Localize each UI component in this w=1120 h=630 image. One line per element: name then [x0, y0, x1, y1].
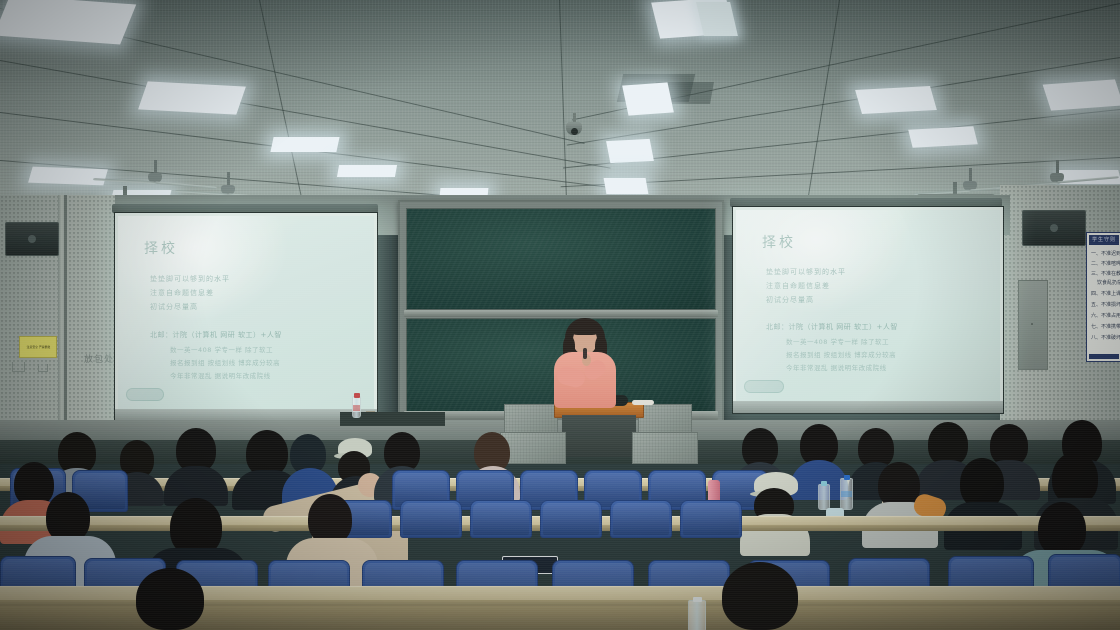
water-bottle	[688, 600, 706, 630]
poster-line: 六、不准占用座位	[1091, 313, 1120, 319]
slide-subline: 报名报到组 按组划线 博弈成分较高	[170, 357, 280, 367]
warning-sign-text: 注意安全 严禁攀爬	[26, 345, 50, 349]
ceiling-light	[1043, 79, 1120, 110]
poster-line: 七、不准携带宠物	[1091, 324, 1120, 330]
slide-left: 择校 垫垫脚可以够到的水平 注意自命题信息差 初试分尽量高 北邮：计院（计算机 …	[118, 216, 374, 418]
water-bottle	[840, 478, 853, 510]
chair[interactable]	[540, 500, 602, 538]
poster-line: 八、不准破坏卫生	[1091, 335, 1120, 341]
podium-step-left	[500, 432, 566, 464]
poster-header: 学生守则	[1089, 235, 1119, 245]
slide-title: 择校	[762, 232, 796, 252]
projection-screen-left[interactable]: 择校 垫垫脚可以够到的水平 注意自命题信息差 初试分尽量高 北邮：计院（计算机 …	[114, 212, 378, 422]
bag-storage-label: 放包处	[84, 352, 114, 365]
poster-line: 饮食乱扔杂物	[1097, 280, 1120, 286]
electrical-panel	[1018, 280, 1048, 370]
ceiling-fan	[120, 160, 190, 190]
microphone	[583, 348, 587, 359]
ceiling-light	[28, 167, 108, 186]
water-bottle	[818, 484, 830, 510]
slide-main-bullet: 北邮：计院（计算机 网研 软工）+人智	[150, 330, 282, 340]
bottle-label	[841, 491, 852, 497]
speaker	[540, 318, 630, 414]
slide-bullet: 垫垫脚可以够到的水平	[766, 267, 846, 277]
student-head	[960, 458, 1004, 508]
poster-footer	[1089, 354, 1119, 359]
speaker-cone-icon	[1050, 224, 1058, 232]
ceiling-fan	[938, 168, 1002, 196]
ceiling-light	[622, 82, 674, 115]
projector-glow	[736, 210, 921, 320]
slide-bullet: 初试分尽量高	[150, 302, 198, 312]
slide-subline: 数一英一408 学专一样 除了软工	[786, 336, 889, 346]
student-head	[722, 562, 798, 630]
chair[interactable]	[400, 500, 462, 538]
camera-lens-icon	[571, 128, 578, 135]
slide-subline: 今年非常混乱 据说明年改成院线	[786, 362, 887, 372]
pillar-edge	[64, 195, 67, 445]
bottle-cap	[844, 475, 850, 480]
chair[interactable]	[680, 500, 742, 538]
wall-speaker-right	[1022, 210, 1086, 246]
camera-stem	[573, 113, 576, 122]
blackboard-rail	[404, 310, 718, 317]
slide-watermark	[126, 388, 164, 401]
blackboard-panel-upper	[406, 208, 716, 310]
wall-speaker-left	[5, 222, 59, 256]
projection-screen-right[interactable]: 择校 垫垫脚可以够到的水平 注意自命题信息差 初试分尽量高 北邮：计院（计算机 …	[732, 206, 1004, 414]
poster-line: 二、不准喧哗打闹	[1091, 261, 1120, 267]
ceiling-camera	[566, 122, 582, 135]
bottle-label	[353, 405, 360, 411]
slide-bullet: 初试分尽量高	[766, 295, 814, 305]
slide-title: 择校	[144, 238, 178, 258]
ceiling	[0, 0, 1120, 215]
poster-line: 五、不准损坏公物	[1091, 302, 1120, 308]
bottle-cap	[693, 597, 702, 602]
slide-subline: 今年非常混乱 据说明年改成院线	[170, 370, 271, 380]
projector-glow	[118, 216, 297, 327]
student-head	[1052, 452, 1098, 504]
ceiling-light	[270, 137, 339, 152]
wall-hook	[38, 364, 48, 372]
slide-subline: 报名报到组 按组划线 博弈成分较高	[786, 349, 896, 359]
wall-hook	[12, 362, 25, 372]
warning-sign: 注意安全 严禁攀爬	[19, 336, 57, 358]
chair[interactable]	[470, 500, 532, 538]
ceiling-light	[908, 126, 978, 147]
lecture-hall-photo: 注意安全 严禁攀爬 放包处 学生守则 一、不准迟到早退 二、不准喧哗打闹 三、不…	[0, 0, 1120, 630]
ceiling-light	[606, 139, 654, 163]
chair[interactable]	[610, 500, 672, 538]
screen-bottom-bar	[733, 401, 1003, 413]
panel-screw	[1031, 323, 1033, 325]
speaker-cone-icon	[28, 235, 36, 243]
student-head	[136, 568, 204, 630]
student-head	[308, 494, 352, 544]
poster-header-text: 学生守则	[1089, 235, 1119, 245]
slide-bullet: 注意自命题信息差	[150, 288, 214, 298]
bottle-cap	[354, 393, 360, 398]
poster-line: 三、不准在教室内吸烟	[1091, 271, 1120, 277]
student-head	[1038, 502, 1086, 556]
poster-line: 一、不准迟到早退	[1091, 251, 1120, 257]
slide-right: 择校 垫垫脚可以够到的水平 注意自命题信息差 初试分尽量高 北邮：计院（计算机 …	[736, 210, 1000, 410]
slide-bullet: 注意自命题信息差	[766, 281, 830, 291]
ceiling-light	[337, 165, 397, 177]
podium-step-right	[632, 432, 698, 464]
slide-subline: 数一英一408 学专一样 除了软工	[170, 344, 273, 354]
rules-poster: 学生守则 一、不准迟到早退 二、不准喧哗打闹 三、不准在教室内吸烟 饮食乱扔杂物…	[1086, 232, 1120, 362]
student-head	[46, 492, 90, 542]
podium-body	[562, 415, 636, 457]
poster-line: 四、不准上课玩手机	[1091, 291, 1120, 297]
slide-bullet: 垫垫脚可以够到的水平	[150, 274, 230, 284]
bottle-cap	[821, 481, 827, 486]
paper-on-podium	[632, 400, 654, 405]
water-bottle	[352, 396, 361, 418]
ceiling-light	[138, 81, 246, 114]
speaker-bangs	[571, 323, 599, 335]
projector-mount	[953, 182, 957, 194]
ceiling-light	[855, 86, 937, 114]
slide-main-bullet: 北邮：计院（计算机 网研 软工）+人智	[766, 322, 898, 332]
ceiling-light	[604, 178, 649, 194]
slide-watermark	[744, 380, 784, 393]
